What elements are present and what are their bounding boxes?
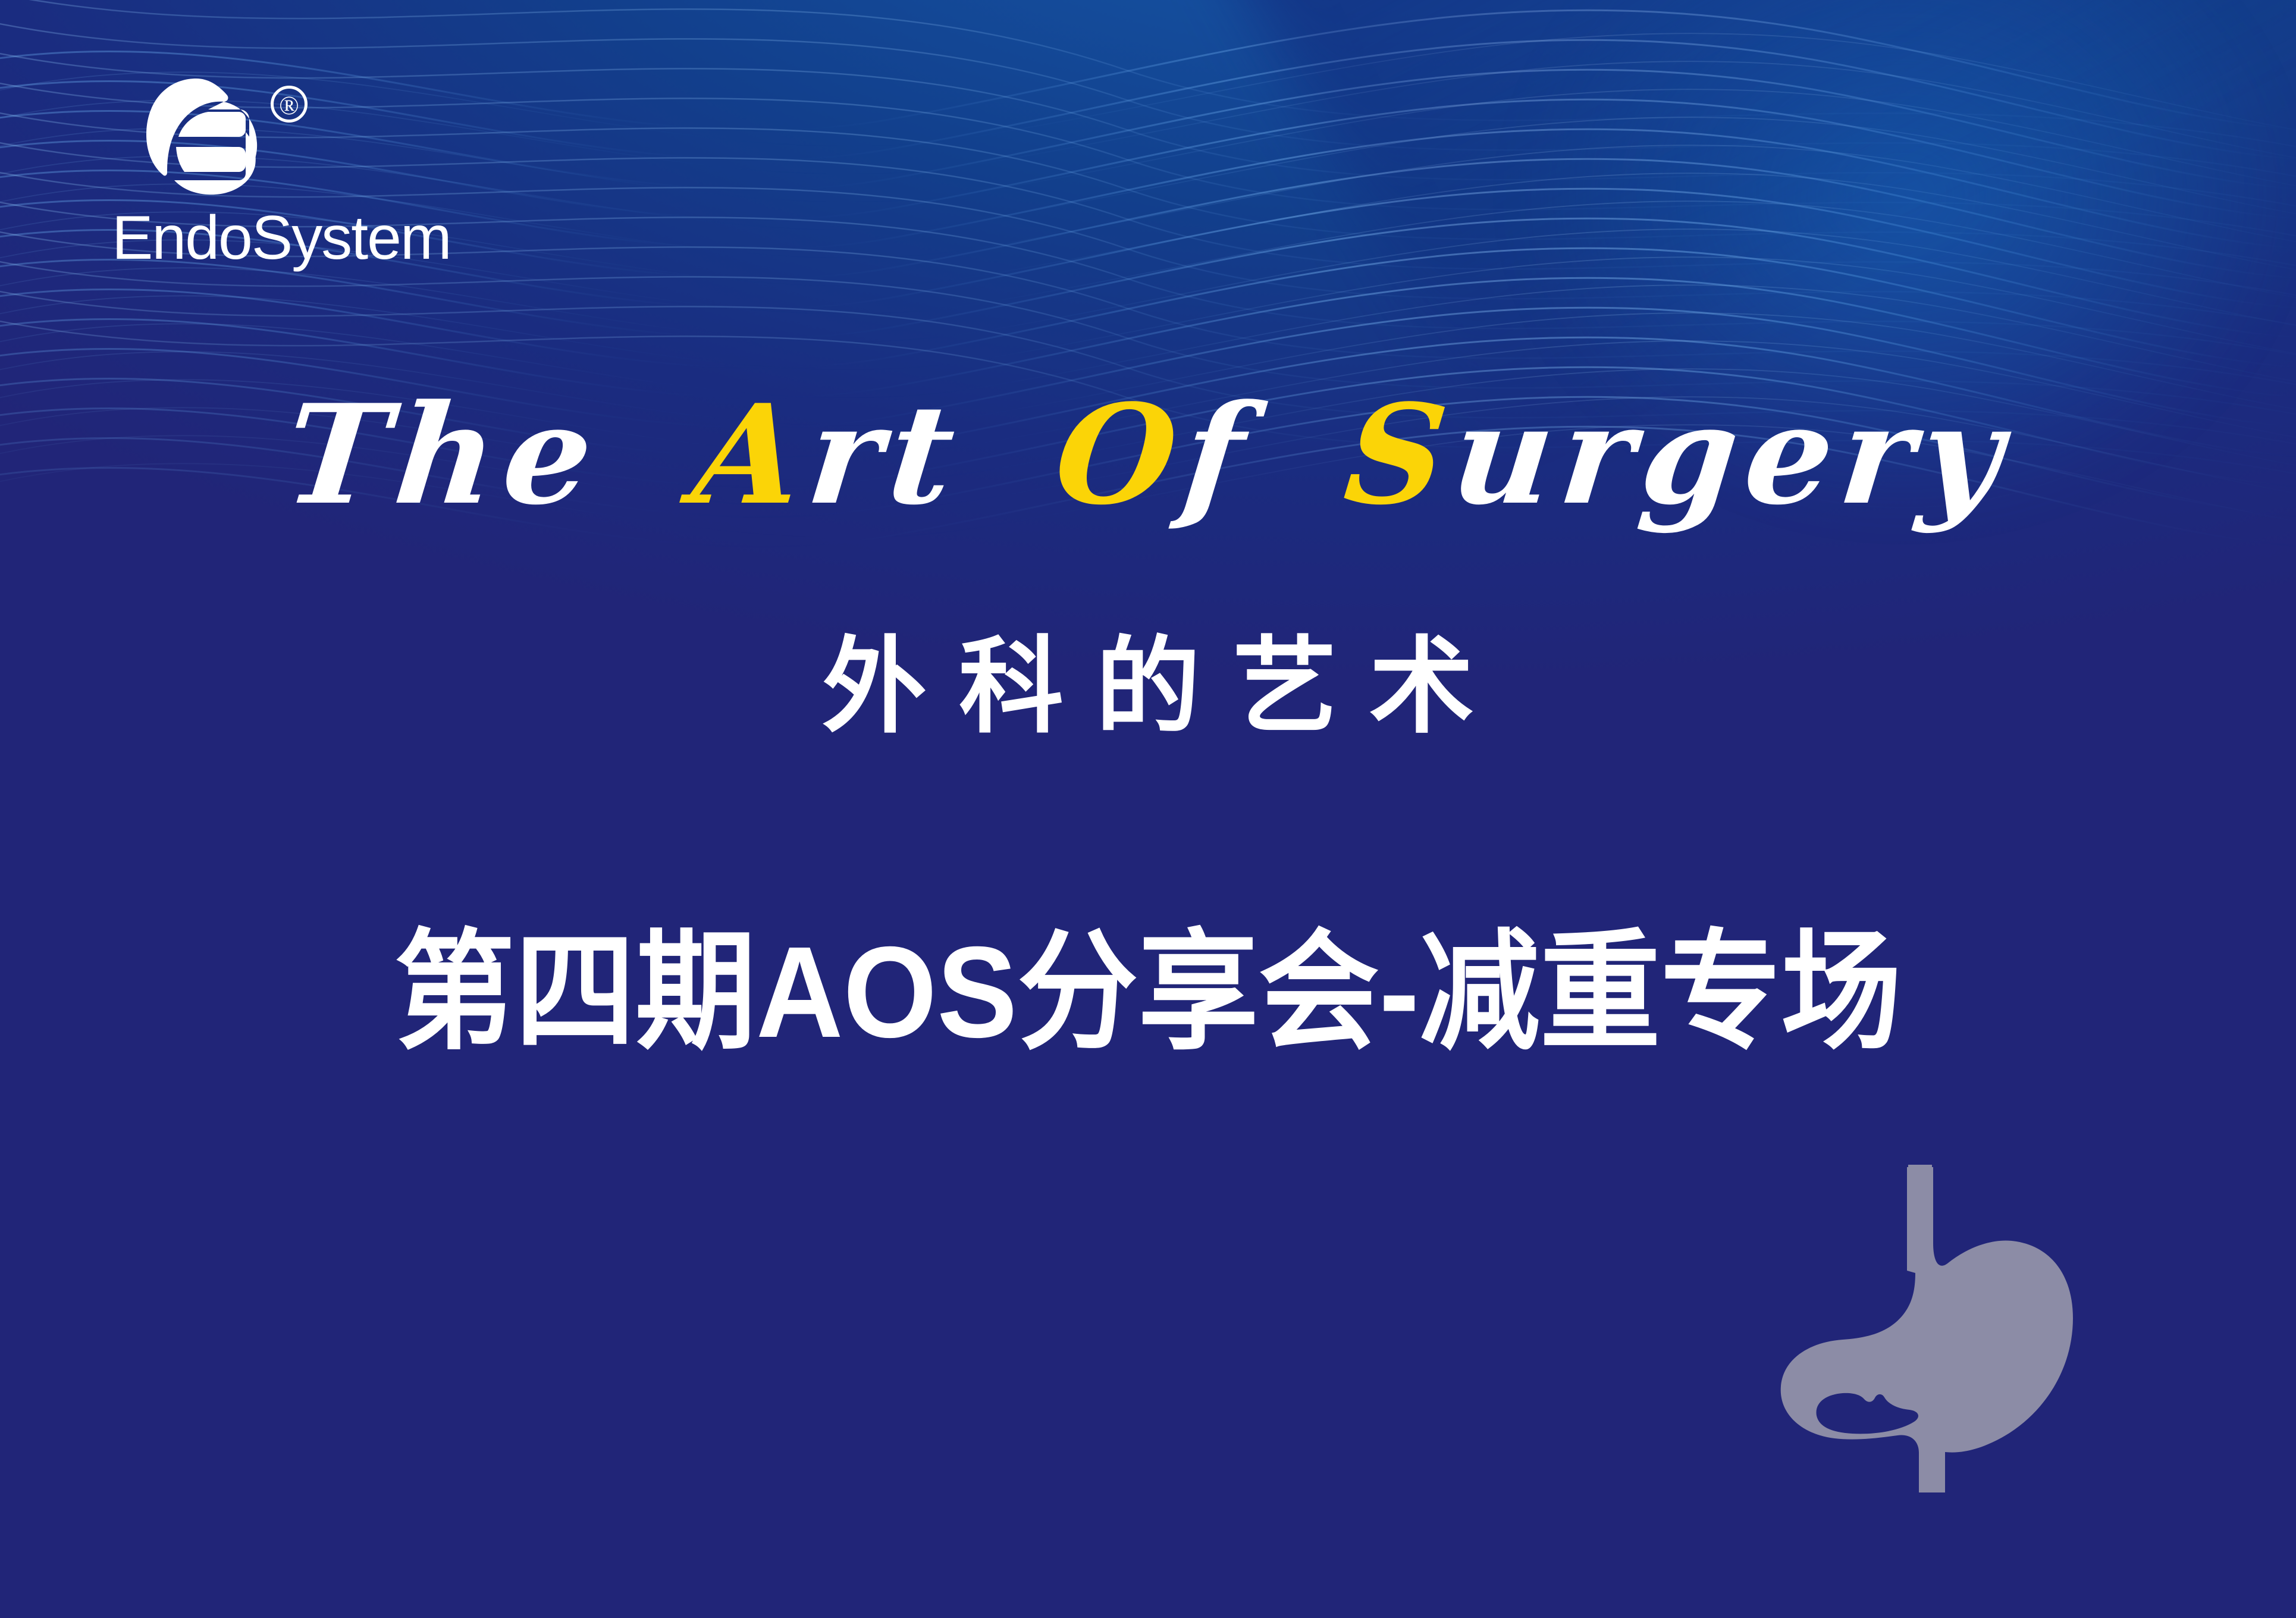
title-en-seg-O: O	[1048, 375, 1193, 535]
brand-wordmark: EndoSystem	[112, 207, 391, 269]
stomach-icon	[1759, 1154, 2081, 1529]
title-en-seg-S: S	[1338, 375, 1462, 535]
stomach-illustration	[1759, 1154, 2081, 1529]
registered-trademark-icon: ®	[271, 86, 308, 123]
title-english: The Art Of Surgery	[0, 387, 2296, 523]
logo-mark-row: ®	[137, 77, 391, 202]
endosystem-e-mark-icon	[137, 77, 265, 196]
title-en-seg-the: The	[278, 375, 608, 535]
title-en-seg-rt: rt	[801, 375, 970, 535]
title-en-seg-A: A	[686, 375, 818, 535]
brand-logo: ® EndoSystem	[112, 77, 391, 269]
title-session: 第四期AOS分享会-减重专场	[80, 916, 2216, 1069]
poster-canvas: ® EndoSystem The Art Of Surgery 外科的艺术 第四…	[0, 0, 2296, 1618]
title-en-seg-urgery: urgery	[1445, 375, 2018, 535]
title-chinese: 外科的艺术	[0, 625, 2296, 748]
